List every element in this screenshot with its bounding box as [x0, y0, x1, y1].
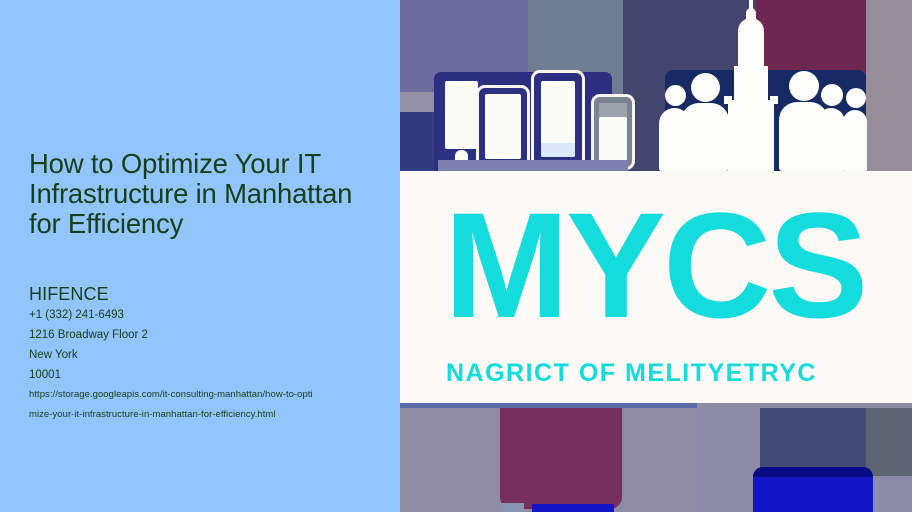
bottom-maroon-block	[500, 408, 622, 509]
smartphone-screen	[445, 81, 478, 149]
tablet-screen-glow	[541, 143, 575, 157]
contact-street-address: 1216 Broadway Floor 2	[29, 328, 148, 342]
company-name: HIFENCE	[29, 283, 109, 305]
info-panel: How to Optimize Your IT Infrastructure i…	[0, 0, 400, 512]
source-url-line-1[interactable]: https://storage.googleapis.com/it-consul…	[29, 389, 313, 401]
person-head-2	[691, 73, 720, 102]
person-head-3	[789, 71, 819, 101]
skyscraper-midsection	[734, 66, 768, 104]
skyscraper-ledge-left	[724, 96, 732, 104]
handheld-screen	[599, 117, 627, 162]
bottom-maroon-foot	[502, 503, 524, 512]
logo-wordmark: MYCS	[444, 190, 865, 340]
color-band-gray	[866, 0, 912, 171]
person-body-4	[817, 108, 845, 171]
hero-illustration: MYCS NAGRICT OF MELITYETRYC	[400, 0, 912, 512]
handheld-device-icon	[594, 97, 632, 167]
contact-city: New York	[29, 348, 78, 362]
logo-band: MYCS NAGRICT OF MELITYETRYC	[400, 171, 912, 403]
contact-postal-code: 10001	[29, 368, 61, 382]
bottom-navy-plate	[760, 408, 872, 474]
source-url-line-2[interactable]: mize-your-it-infrastructure-in-manhattan…	[29, 409, 276, 421]
hero-top-collage	[400, 0, 912, 171]
skyscraper-base-icon	[728, 100, 774, 171]
bottom-gray-block	[866, 408, 912, 476]
monitor-screen	[485, 94, 521, 159]
bottom-blue-accent	[532, 504, 614, 512]
page-title: How to Optimize Your IT Infrastructure i…	[29, 149, 389, 239]
contact-phone: +1 (332) 241-6493	[29, 308, 124, 322]
person-head-4	[821, 84, 843, 106]
person-head-1	[665, 85, 686, 106]
person-head-5	[846, 88, 866, 108]
logo-tagline: NAGRICT OF MELITYETRYC	[446, 360, 817, 387]
bottom-blue-block-shade	[753, 467, 873, 477]
hero-bottom-collage	[400, 403, 912, 512]
person-body-5	[843, 110, 867, 171]
person-body-2	[681, 103, 729, 171]
handheld-screen-top	[599, 103, 627, 118]
skyscraper-spire	[749, 0, 753, 14]
tablet-icon	[534, 73, 582, 165]
platform-strip	[438, 160, 628, 171]
skyscraper-ledge-right	[770, 96, 778, 104]
monitor-icon	[479, 88, 527, 165]
promo-card: How to Optimize Your IT Infrastructure i…	[0, 0, 912, 512]
